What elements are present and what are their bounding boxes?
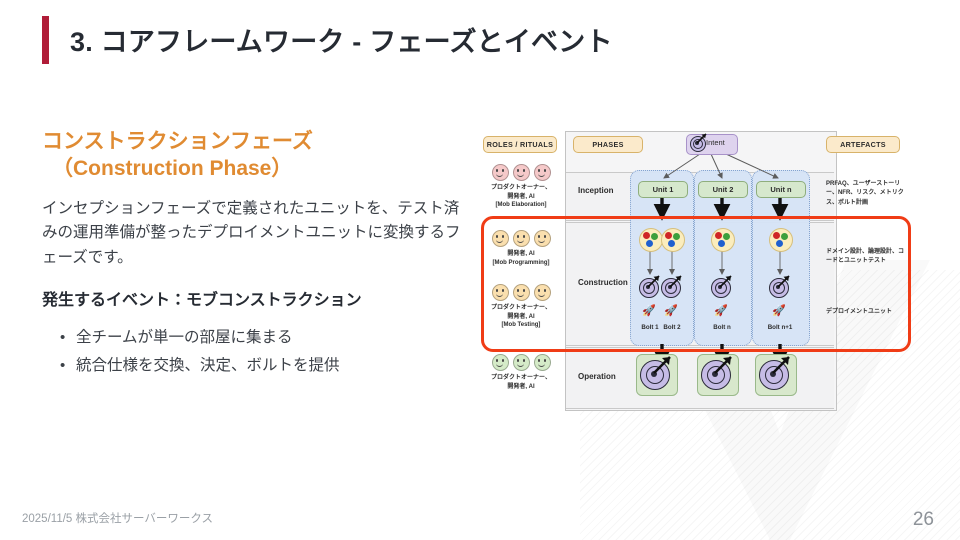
operation-dartboard-icon-3 — [759, 357, 793, 391]
role-faces — [478, 284, 564, 301]
bolt-label-3: Bolt n — [707, 324, 737, 331]
role-group-operation: プロダクトオーナー、 開発者, AI — [478, 354, 564, 391]
artefact-text-deployment: デプロイメントユニット — [826, 308, 906, 317]
list-item: 統合仕様を交換、決定、ボルトを提供 — [76, 352, 462, 381]
role-line-2: 開発者, AI — [478, 193, 564, 202]
bolt-dartboard-icon-1 — [639, 276, 661, 298]
operation-dartboard-icon-2 — [701, 357, 735, 391]
rocket-icon-1: 🚀 — [642, 304, 656, 318]
page-title: 3. コアフレームワーク - フェーズとイベント — [70, 20, 613, 59]
mob-icon-3 — [711, 228, 735, 252]
smiley-face-icon — [534, 284, 551, 301]
unit-box-3: Unit n — [756, 181, 806, 198]
role-line-2: 開発者, AI — [478, 383, 564, 392]
list-item: 全チームが単一の部屋に集まる — [76, 324, 462, 353]
role-line-3: [Mob Elaboration] — [478, 201, 564, 210]
framework-diagram: ROLES / RITUALS PHASES ARTEFACTS Incepti… — [478, 126, 916, 414]
smiley-face-icon — [513, 230, 530, 247]
smiley-face-icon — [492, 164, 509, 181]
role-line-1: プロダクトオーナー、 — [478, 374, 564, 383]
role-faces — [478, 164, 564, 181]
bolt-dartboard-icon-2 — [661, 276, 683, 298]
role-faces — [478, 230, 564, 247]
smiley-face-icon — [513, 284, 530, 301]
artefact-text-inception: PRFAQ、ユーザーストーリー、NFR、リスク、メトリクス、ボルト計画 — [826, 180, 906, 208]
section-heading: コンストラクションフェーズ （Construction Phase） — [42, 128, 462, 183]
slide: 3. コアフレームワーク - フェーズとイベント コンストラクションフェーズ （… — [0, 0, 960, 540]
description-paragraph: インセプションフェーズで定義されたユニットを、テスト済みの運用準備が整ったデプロ… — [42, 197, 462, 271]
bolt-dartboard-icon-4 — [769, 276, 791, 298]
role-line-2: 開発者, AI — [478, 313, 564, 322]
section-heading-line1: コンストラクションフェーズ — [42, 130, 313, 153]
smiley-face-icon — [513, 164, 530, 181]
smiley-face-icon — [492, 354, 509, 371]
bullet-list: 全チームが単一の部屋に集まる 統合仕様を交換、決定、ボルトを提供 — [42, 324, 462, 381]
bolt-dartboard-icon-3 — [711, 276, 733, 298]
role-line-3: [Mob Testing] — [478, 321, 564, 330]
mob-icon-4 — [769, 228, 793, 252]
role-group-construction-programming: 開発者, AI [Mob Programming] — [478, 230, 564, 267]
smiley-face-icon — [492, 230, 509, 247]
mob-icon-2 — [661, 228, 685, 252]
artefact-text-construction: ドメイン設計、論理設計、コードとユニットテスト — [826, 248, 906, 267]
bolt-label-4: Bolt n+1 — [765, 324, 795, 331]
title-accent-bar — [42, 16, 49, 64]
role-line-1: プロダクトオーナー、 — [478, 184, 564, 193]
rocket-icon-3: 🚀 — [714, 304, 728, 318]
smiley-face-icon — [492, 284, 509, 301]
role-faces — [478, 354, 564, 371]
role-line-1: プロダクトオーナー、 — [478, 304, 564, 313]
smiley-face-icon — [534, 354, 551, 371]
rocket-icon-4: 🚀 — [772, 304, 786, 318]
role-line-2: [Mob Programming] — [478, 259, 564, 268]
footer-date: 2025/11/5 株式会社サーバーワークス — [22, 510, 213, 526]
event-heading: 発生するイベント：モブコンストラクション — [42, 289, 462, 314]
smiley-face-icon — [534, 164, 551, 181]
smiley-face-icon — [513, 354, 530, 371]
intent-label: Intent — [706, 138, 725, 147]
smiley-face-icon — [534, 230, 551, 247]
role-line-1: 開発者, AI — [478, 250, 564, 259]
section-heading-line2: （Construction Phase） — [42, 155, 462, 182]
mob-icon-1 — [639, 228, 663, 252]
rocket-icon-2: 🚀 — [664, 304, 678, 318]
operation-dartboard-icon-1 — [640, 357, 674, 391]
role-group-inception: プロダクトオーナー、 開発者, AI [Mob Elaboration] — [478, 164, 564, 210]
role-group-construction-testing: プロダクトオーナー、 開発者, AI [Mob Testing] — [478, 284, 564, 330]
bolt-label-2: Bolt 2 — [657, 324, 687, 331]
unit-box-2: Unit 2 — [698, 181, 748, 198]
page-number: 26 — [913, 509, 934, 531]
left-content-column: コンストラクションフェーズ （Construction Phase） インセプシ… — [42, 128, 462, 381]
unit-box-1: Unit 1 — [638, 181, 688, 198]
intent-dartboard-icon — [690, 135, 707, 152]
